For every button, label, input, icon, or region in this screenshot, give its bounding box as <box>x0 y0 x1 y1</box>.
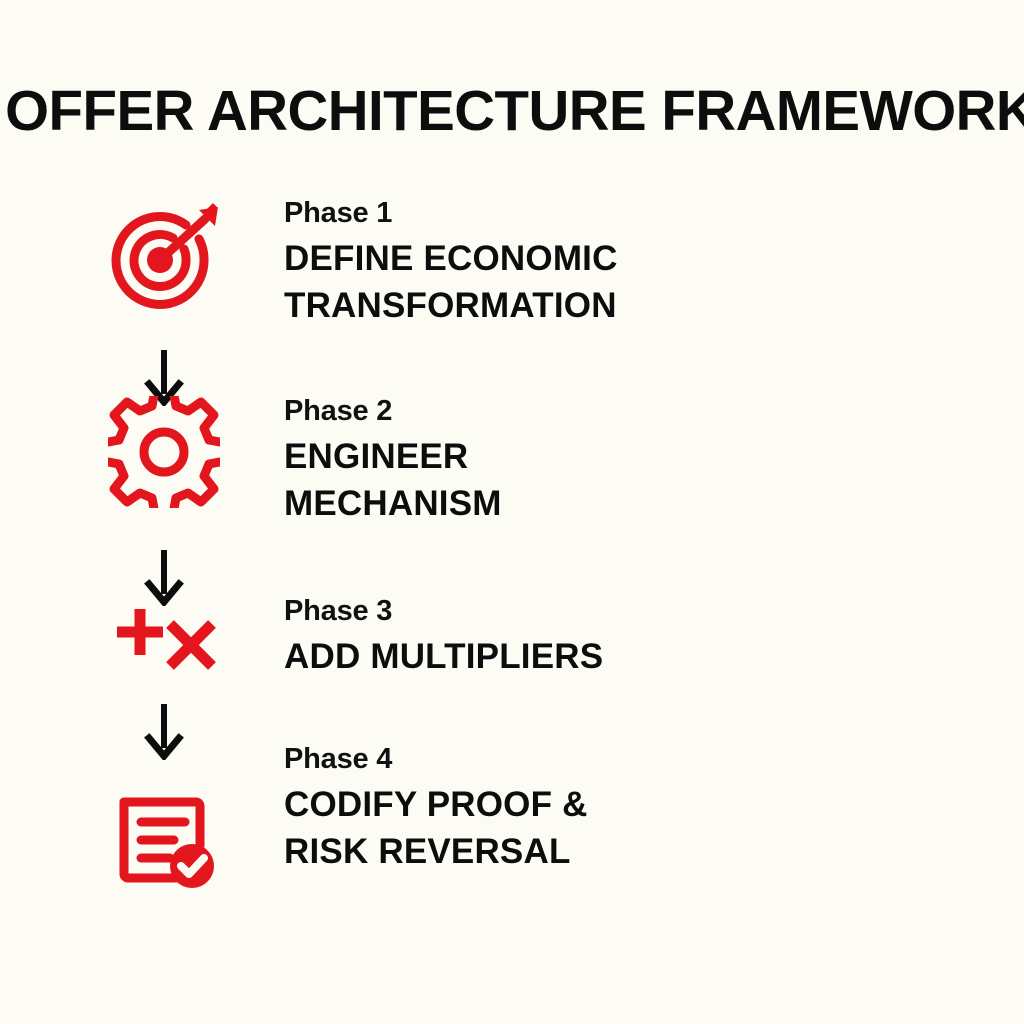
phase-title-line-2: RISK REVERSAL <box>284 829 796 875</box>
phase-flow: Phase 1 DEFINE ECONOMIC TRANSFORMATION P… <box>0 0 1024 1024</box>
phase-title-line-1: ADD MULTIPLIERS <box>284 634 796 680</box>
phase-icon-cell <box>96 198 232 324</box>
phase-text-cell: Phase 2 ENGINEER MECHANISM <box>232 396 796 527</box>
phase-row: Phase 1 DEFINE ECONOMIC TRANSFORMATION <box>96 198 796 329</box>
plus-times-icon <box>108 596 220 682</box>
phase-kicker: Phase 2 <box>284 396 796 427</box>
phase-icon-cell <box>96 596 232 682</box>
phase-title-line-2: TRANSFORMATION <box>284 283 796 329</box>
phase-row: Phase 2 ENGINEER MECHANISM <box>96 396 796 527</box>
phase-title-line-1: DEFINE ECONOMIC <box>284 236 796 282</box>
phase-icon-cell <box>96 744 232 896</box>
phase-text-cell: Phase 4 CODIFY PROOF & RISK REVERSAL <box>232 744 796 875</box>
document-check-icon <box>108 784 220 896</box>
phase-text-cell: Phase 3 ADD MULTIPLIERS <box>232 596 796 681</box>
phase-kicker: Phase 4 <box>284 744 796 775</box>
framework-infographic: OFFER ARCHITECTURE FRAMEWORK <box>0 0 1024 1024</box>
phase-row: Phase 3 ADD MULTIPLIERS <box>96 596 796 682</box>
phase-title-line-1: ENGINEER <box>284 434 796 480</box>
target-arrow-icon <box>103 198 225 324</box>
phase-kicker: Phase 1 <box>284 198 796 229</box>
phase-title-line-2: MECHANISM <box>284 481 796 527</box>
phase-kicker: Phase 3 <box>284 596 796 627</box>
gear-center <box>144 432 184 472</box>
phase-icon-cell <box>96 396 232 508</box>
phase-row: Phase 4 CODIFY PROOF & RISK REVERSAL <box>96 744 796 896</box>
gear-icon <box>108 396 220 508</box>
phase-text-cell: Phase 1 DEFINE ECONOMIC TRANSFORMATION <box>232 198 796 329</box>
phase-title-line-1: CODIFY PROOF & <box>284 782 796 828</box>
